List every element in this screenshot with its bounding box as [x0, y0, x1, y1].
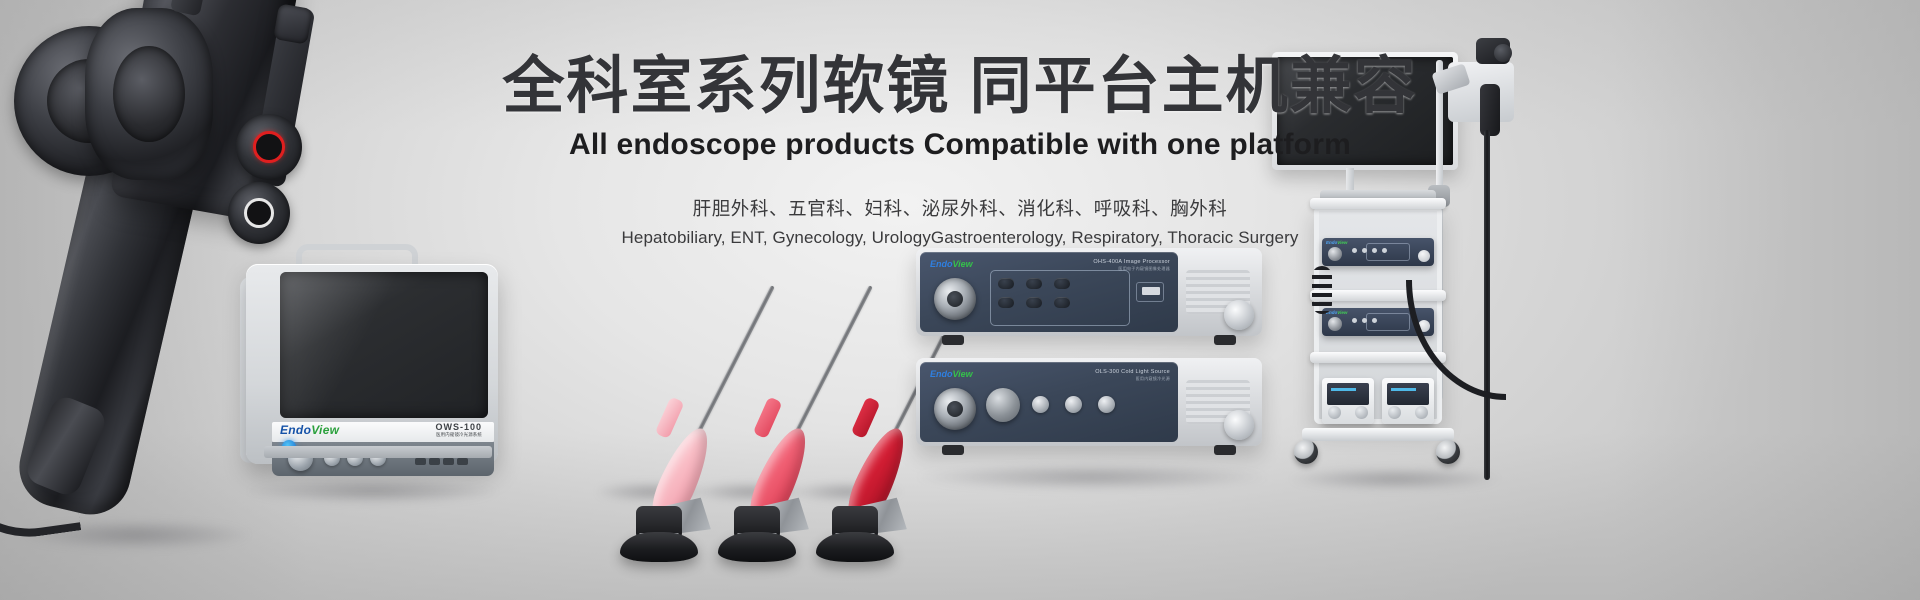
mode-button-row[interactable] [1032, 396, 1115, 413]
scope-connector-socket[interactable] [934, 278, 976, 320]
accessory-display [1327, 383, 1369, 405]
scope-neck [655, 396, 685, 439]
function-keypad[interactable] [998, 278, 1070, 308]
usb-port[interactable] [1136, 282, 1164, 302]
banner-text-block: 全科室系列软镜 同平台主机兼容 All endoscope products C… [0, 52, 1920, 248]
connector-socket[interactable] [1328, 247, 1342, 261]
brand-logo-part1: Endo [930, 369, 953, 379]
model-subtitle: 医用内窥镜冷光源 [1095, 376, 1170, 382]
scope-neck [753, 396, 783, 439]
cart-caster-right [1436, 440, 1460, 464]
cart-accessory-right [1382, 378, 1434, 424]
cart-base-deck [1302, 428, 1454, 441]
departments-english: Hepatobiliary, ENT, Gynecology, UrologyG… [0, 228, 1920, 248]
banner-subheadline: All endoscope products Compatible with o… [0, 128, 1920, 162]
unit-feet [942, 445, 1236, 455]
brand-logo-part2: View [953, 369, 973, 379]
scope-stand-base [620, 532, 698, 562]
power-button[interactable] [1224, 300, 1254, 330]
brand-logo: EndoView [930, 259, 973, 269]
scope-neck [851, 396, 881, 439]
scope-stand-base [718, 532, 796, 562]
accessory-knob-right[interactable] [1355, 406, 1368, 419]
departments-chinese: 肝胆外科、五官科、妇科、泌尿外科、消化科、呼吸科、胸外科 [0, 195, 1920, 221]
image-processor-unit: EndoView OHS-400A Image Processor 医用电子内窥… [916, 248, 1262, 336]
front-panel: EndoView OLS-300 Cold Light Source 医用内窥镜… [920, 362, 1178, 442]
indicator-dots [1352, 318, 1377, 323]
banner-headline: 全科室系列软镜 同平台主机兼容 [0, 52, 1920, 121]
model-number: OHS-400A Image Processor [1093, 259, 1170, 265]
brand-logo-part2: View [1337, 310, 1347, 315]
light-output-socket[interactable] [934, 388, 976, 430]
power-button[interactable] [1418, 250, 1430, 262]
endoscope-function-button [273, 3, 313, 44]
indicator-dots [1352, 248, 1387, 253]
brand-logo-part1: Endo [930, 259, 953, 269]
brand-logo: EndoView [930, 369, 973, 379]
model-number: OWS-100 [435, 422, 482, 432]
scope-stand-base [816, 532, 894, 562]
accessory-knob-left[interactable] [1328, 406, 1341, 419]
accessory-display [1387, 383, 1429, 405]
connector-socket[interactable] [1328, 317, 1342, 331]
coiled-cable [1312, 266, 1332, 314]
power-button[interactable] [1224, 410, 1254, 440]
model-number: OLS-300 Cold Light Source [1095, 369, 1170, 375]
cart-caster-left [1294, 440, 1318, 464]
accessory-knob-right[interactable] [1415, 406, 1428, 419]
brightness-knob[interactable] [986, 388, 1020, 422]
processor-stack: EndoView OHS-400A Image Processor 医用电子内窥… [916, 248, 1268, 478]
model-subtitle: 医用内窥镜冷光源系统 [435, 432, 482, 438]
cart-shelf-3 [1310, 352, 1446, 363]
model-label: OWS-100 医用内窥镜冷光源系统 [435, 422, 482, 438]
unit-feet [942, 335, 1236, 345]
product-banner: EndoView OWS-100 医用内窥镜冷光源系统 [0, 0, 1920, 600]
cold-light-source-unit: EndoView OLS-300 Cold Light Source 医用内窥镜… [916, 358, 1262, 446]
cart-accessory-left [1322, 378, 1374, 424]
accessory-knob-left[interactable] [1388, 406, 1401, 419]
front-panel: EndoView OHS-400A Image Processor 医用电子内窥… [920, 252, 1178, 332]
model-label: OLS-300 Cold Light Source 医用内窥镜冷光源 [1095, 368, 1170, 382]
brand-logo-part2: View [953, 259, 973, 269]
